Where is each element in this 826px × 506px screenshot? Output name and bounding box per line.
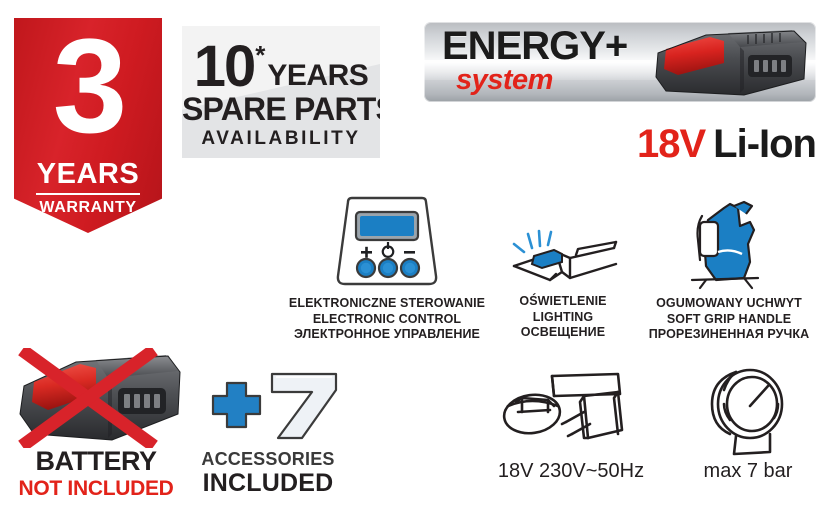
accessories-badge: ACCESSORIES INCLUDED <box>196 366 340 498</box>
spec-power-supply: 18V 230V~50Hz <box>488 368 654 492</box>
soft-grip-handle-icon <box>646 200 812 297</box>
warranty-label: WARRANTY <box>14 200 162 216</box>
feature-electronic-control: ELEKTRONICZNE STEROWANIE ELECTRONIC CONT… <box>284 196 490 348</box>
infographic-canvas: 3 YEARS WARRANTY 10*YEARS SPARE PARTS AV… <box>0 0 826 506</box>
pressure-gauge-icon <box>684 368 812 463</box>
power-supply-label: 18V 230V~50Hz <box>474 460 668 482</box>
max-pressure-label: max 7 bar <box>670 460 826 482</box>
voltage-value: 18V <box>637 122 705 166</box>
spare-parts-number: 10 <box>194 34 255 99</box>
spare-parts-badge: 10*YEARS SPARE PARTS AVAILABILITY <box>182 26 380 158</box>
caption-line: ELECTRONIC CONTROL <box>276 312 498 328</box>
divider <box>36 193 140 195</box>
battery-not-included-badge: BATTERY NOT INCLUDED <box>6 348 186 498</box>
energy-plus-banner: ENERGY+ system <box>424 22 816 102</box>
control-panel-icon <box>284 196 490 297</box>
battery-chemistry: Li-Ion <box>713 122 816 166</box>
warranty-badge: 3 YEARS WARRANTY <box>14 18 162 233</box>
feature-caption-grip: OGUMOWANY UCHWYT SOFT GRIP HANDLE ПРОРЕЗ… <box>638 296 820 343</box>
caption-line: OŚWIETLENIE <box>498 294 628 310</box>
battery-crossed-out-icon <box>8 348 184 448</box>
caption-line: ПРОРЕЗИНЕННАЯ РУЧКА <box>638 327 820 343</box>
battery-pack-icon <box>644 27 810 99</box>
warranty-years-number: 3 <box>14 20 162 154</box>
spec-max-pressure: max 7 bar <box>684 368 812 492</box>
caption-line: LIGHTING <box>498 310 628 326</box>
charger-plug-icon <box>488 368 654 463</box>
feature-soft-grip-handle: OGUMOWANY UCHWYT SOFT GRIP HANDLE ПРОРЕЗ… <box>646 200 812 348</box>
caption-line: ЭЛЕКТРОННОЕ УПРАВЛЕНИЕ <box>276 327 498 343</box>
caption-line: OGUMOWANY UCHWYT <box>638 296 820 312</box>
voltage-spec: 18VLi-Ion <box>560 122 816 166</box>
plus-seven-icon <box>196 366 340 444</box>
led-light-icon <box>506 222 620 297</box>
caption-line: ОСВЕЩЕНИЕ <box>498 325 628 341</box>
accessories-line2: INCLUDED <box>196 471 340 496</box>
battery-label: BATTERY <box>6 448 186 475</box>
caption-line: ELEKTRONICZNE STEROWANIE <box>276 296 498 312</box>
feature-caption-electronic: ELEKTRONICZNE STEROWANIE ELECTRONIC CONT… <box>276 296 498 343</box>
spare-parts-headline: 10*YEARS <box>182 38 380 96</box>
energy-plus-title: ENERGY+ <box>442 26 627 66</box>
not-included-label: NOT INCLUDED <box>6 478 186 499</box>
asterisk-mark: * <box>255 40 265 70</box>
energy-plus-subtitle: system <box>456 66 553 95</box>
accessories-line1: ACCESSORIES <box>196 450 340 468</box>
warranty-years-label: YEARS <box>14 160 162 189</box>
caption-line: SOFT GRIP HANDLE <box>638 312 820 328</box>
feature-caption-lighting: OŚWIETLENIE LIGHTING ОСВЕЩЕНИЕ <box>498 294 628 341</box>
spare-parts-years-label: YEARS <box>267 59 368 92</box>
spare-parts-line2: SPARE PARTS <box>182 93 380 125</box>
spare-parts-line3: AVAILABILITY <box>182 129 380 148</box>
feature-lighting: OŚWIETLENIE LIGHTING ОСВЕЩЕНИЕ <box>506 222 620 348</box>
